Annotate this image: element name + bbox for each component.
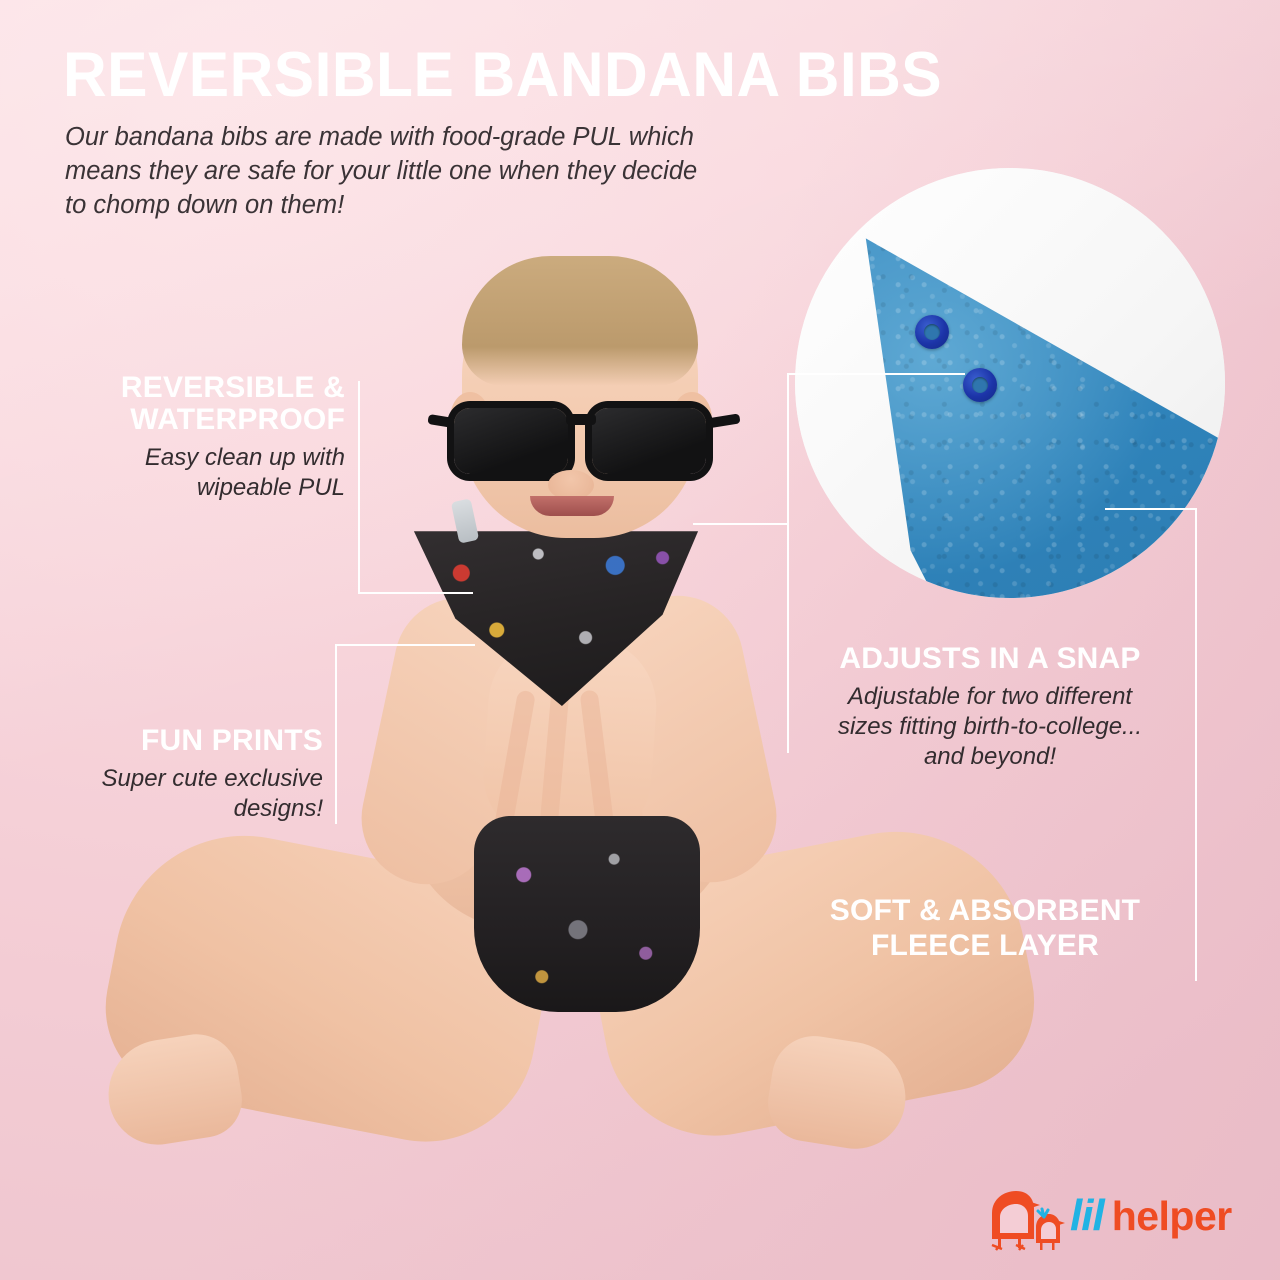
callout-heading: ADJUSTS IN A SNAP (795, 643, 1185, 675)
callout-heading: SOFT & ABSORBENT FLEECE LAYER (790, 893, 1180, 964)
callout-soft-absorbent-fleece: SOFT & ABSORBENT FLEECE LAYER (790, 893, 1180, 964)
callout-body-line: Adjustable for two different (795, 682, 1185, 712)
callout-heading-line: FLEECE LAYER (790, 928, 1180, 963)
bird-icon (978, 1187, 1070, 1253)
inset-circle-photo (795, 168, 1225, 598)
connector-funprints-vertical (335, 644, 337, 824)
callout-body-line: Easy clean up with (40, 443, 345, 473)
connector-reversible-horizontal (358, 592, 473, 594)
callout-body-line: Super cute exclusive (40, 764, 323, 794)
callout-body-line: designs! (40, 794, 323, 824)
callout-heading: FUN PRINTS (40, 725, 323, 757)
callout-adjusts-in-a-snap: ADJUSTS IN A SNAP Adjustable for two dif… (795, 643, 1185, 773)
callout-body: Easy clean up with wipeable PUL (40, 443, 345, 503)
connector-fleece-horizontal (1105, 508, 1197, 510)
callout-reversible-waterproof: REVERSIBLE & WATERPROOF Easy clean up wi… (40, 372, 345, 503)
sunglasses-left-temple (427, 414, 454, 428)
callout-body: Adjustable for two different sizes fitti… (795, 682, 1185, 773)
connector-funprints-horizontal (335, 644, 475, 646)
callout-body: Super cute exclusive designs! (40, 764, 323, 824)
callout-heading-line: REVERSIBLE & (40, 372, 345, 404)
sunglasses-left-lens (454, 408, 568, 474)
sunglasses-right-lens (592, 408, 706, 474)
brand-logo[interactable]: lilhelper (978, 1185, 1228, 1257)
sunglasses-bridge (566, 414, 596, 425)
snap-button-top (915, 315, 949, 349)
connector-adjusts-top-horizontal (787, 373, 965, 375)
baby-mouth (530, 496, 614, 516)
connector-fleece-vertical (1195, 508, 1197, 981)
logo-wordmark: lilhelper (1070, 1191, 1232, 1241)
chick-icon (1036, 1209, 1065, 1250)
sunglasses (440, 400, 720, 476)
callout-body-line: wipeable PUL (40, 473, 345, 503)
callout-body-line: and beyond! (795, 742, 1185, 772)
infographic-canvas: REVERSIBLE BANDANA BIBS Our bandana bibs… (0, 0, 1280, 1280)
callout-heading: REVERSIBLE & WATERPROOF (40, 372, 345, 436)
connector-reversible-vertical (358, 381, 360, 594)
callout-heading-line: SOFT & ABSORBENT (790, 893, 1180, 928)
logo-helper-text: helper (1112, 1193, 1232, 1239)
callout-fun-prints: FUN PRINTS Super cute exclusive designs! (40, 725, 323, 824)
sunglasses-right-temple (705, 413, 740, 428)
snap-button-bottom (963, 368, 997, 402)
logo-lil-text: lil (1070, 1191, 1104, 1240)
callout-body-line: sizes fitting birth-to-college... (795, 712, 1185, 742)
callout-heading-line: WATERPROOF (40, 404, 345, 436)
baby-diaper (474, 816, 700, 1012)
connector-adjusts-left-horizontal (693, 523, 788, 525)
connector-adjusts-vertical (787, 373, 789, 753)
callout-heading-line: FUN PRINTS (40, 725, 323, 757)
callout-heading-line: ADJUSTS IN A SNAP (795, 643, 1185, 675)
baby-hair (462, 256, 698, 386)
